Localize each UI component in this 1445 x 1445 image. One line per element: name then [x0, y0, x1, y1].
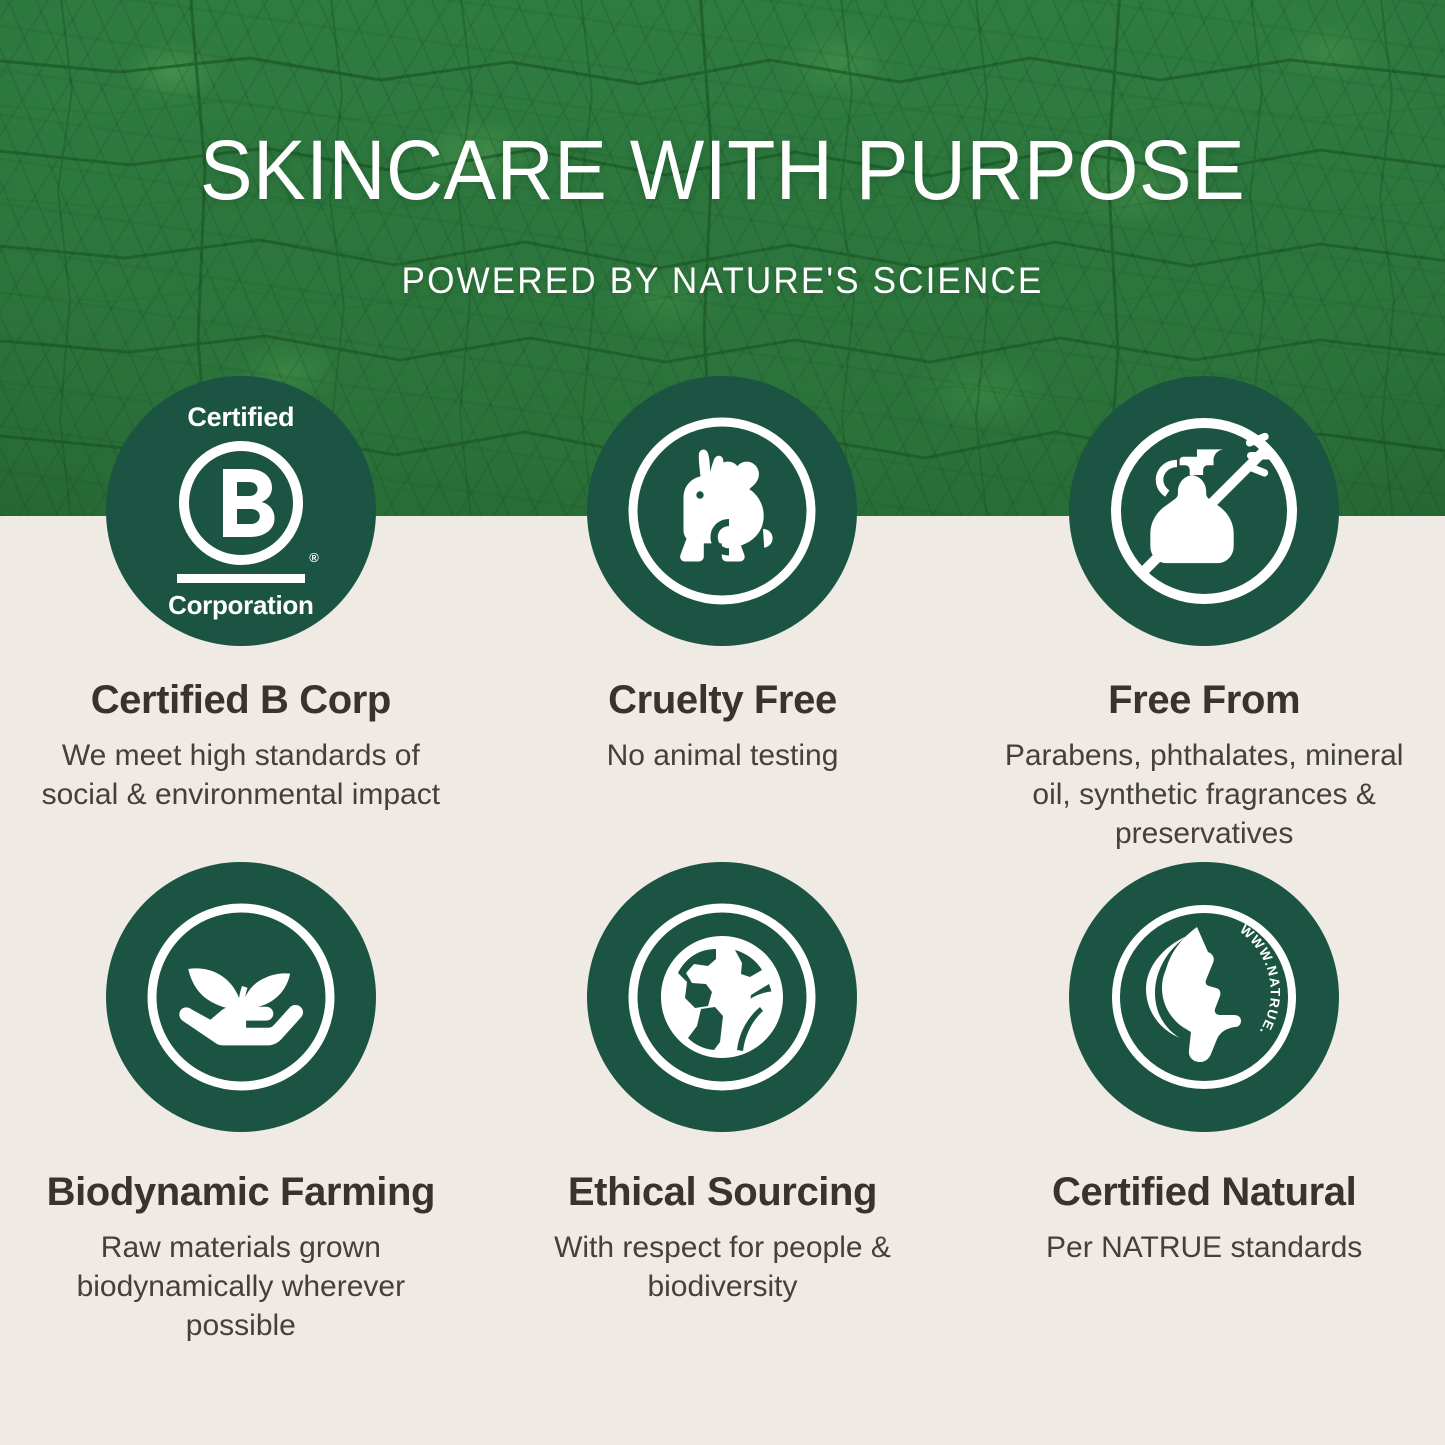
certification-grid: Certified ® Corporation Certified B Corp…: [0, 376, 1445, 853]
natrue-face-leaf-icon: WWW.NATRUE.ORG: [1069, 862, 1339, 1132]
certification-item: Certified ® Corporation Certified B Corp…: [0, 376, 482, 853]
certification-description: Parabens, phthalates, mineral oil, synth…: [1004, 736, 1404, 853]
registered-trademark-icon: ®: [309, 550, 319, 565]
b-corp-divider: [177, 574, 305, 583]
hand-sprout-icon: [106, 862, 376, 1132]
certification-item: Cruelty Free No animal testing: [482, 376, 964, 853]
certification-item: Biodynamic Farming Raw materials grown b…: [0, 862, 482, 1345]
certification-title: Ethical Sourcing: [568, 1172, 877, 1212]
no-spray-bottle-icon: [1069, 376, 1339, 646]
certification-title: Certified Natural: [1052, 1172, 1356, 1212]
certification-description: No animal testing: [607, 736, 839, 775]
b-corp-corporation-label: Corporation: [168, 592, 313, 618]
b-corp-icon: Certified ® Corporation: [106, 376, 376, 646]
b-corp-certified-label: Certified: [187, 404, 294, 431]
globe-leaf-icon: [587, 862, 857, 1132]
b-corp-circle-b-icon: [175, 437, 307, 569]
no-spray-bottle-glyph: [1099, 406, 1309, 616]
certification-description: With respect for people & biodiversity: [522, 1228, 922, 1306]
rabbit-heart-icon: [587, 376, 857, 646]
certification-title: Biodynamic Farming: [47, 1172, 435, 1212]
certification-title: Certified B Corp: [91, 680, 391, 720]
globe-leaf-glyph: [617, 892, 827, 1102]
certification-grid-row-two: Biodynamic Farming Raw materials grown b…: [0, 862, 1445, 1345]
certification-item: Free From Parabens, phthalates, mineral …: [963, 376, 1445, 853]
certification-description: We meet high standards of social & envir…: [41, 736, 441, 814]
certification-item: Ethical Sourcing With respect for people…: [482, 862, 964, 1345]
certification-item: WWW.NATRUE.ORG Certified Natural Per NAT…: [963, 862, 1445, 1345]
certification-title: Free From: [1108, 680, 1300, 720]
skincare-purpose-poster: SKINCARE WITH PURPOSE POWERED BY NATURE'…: [0, 0, 1445, 1445]
natrue-logo-glyph: WWW.NATRUE.ORG: [1099, 892, 1309, 1102]
certification-description: Raw materials grown biodynamically where…: [41, 1228, 441, 1345]
certification-title: Cruelty Free: [608, 680, 837, 720]
hand-sprout-glyph: [136, 892, 346, 1102]
page-subtitle: POWERED BY NATURE'S SCIENCE: [36, 262, 1409, 299]
page-title: SKINCARE WITH PURPOSE: [43, 128, 1401, 212]
certification-description: Per NATRUE standards: [1046, 1228, 1362, 1267]
rabbit-heart-glyph: [619, 408, 825, 614]
